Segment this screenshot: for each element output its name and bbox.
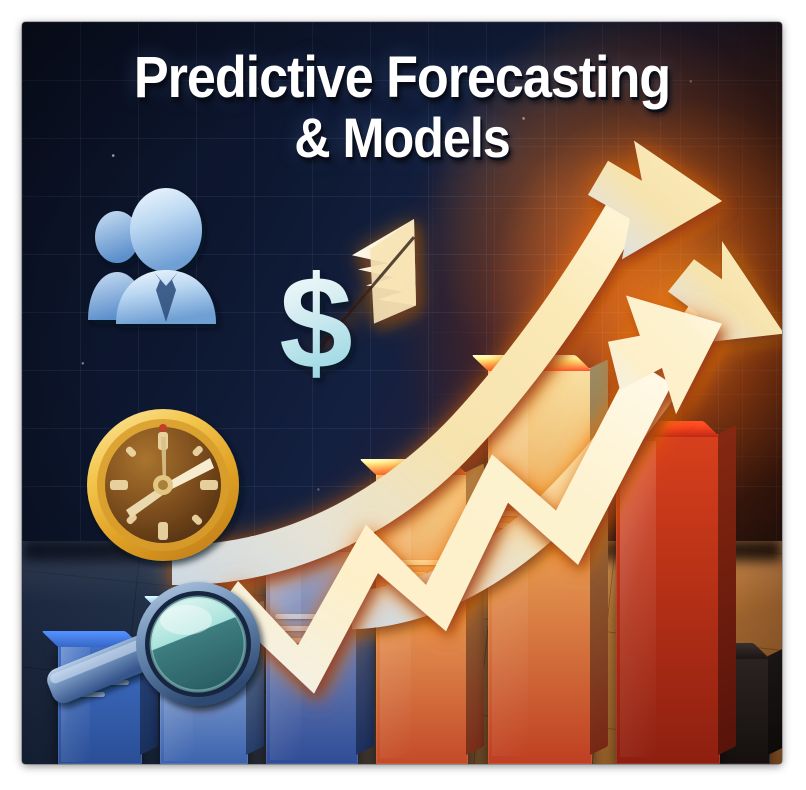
bar-side [768,647,782,755]
page-title: Predictive Forecasting & Models [22,48,782,166]
poster-frame: $ [0,0,806,790]
bar-side [466,463,484,755]
bar-top [599,421,720,437]
bar-gloss [492,376,527,756]
bar-detail-lines [385,560,453,620]
bar-background-red [616,434,720,764]
bar-side [718,425,736,755]
clock-icon [82,404,244,566]
bar-top [249,536,358,552]
magnifier-icon [40,578,280,718]
dollar-glyph: $ [279,249,352,396]
title-line-2: & Models [92,109,711,166]
bar-face [488,368,592,764]
bar-gloss [620,441,655,758]
title-line-1: Predictive Forecasting [92,48,711,107]
bar-side [356,540,374,755]
poster-artboard: $ [22,22,782,764]
bar-face [376,472,468,764]
bar-top [359,459,468,475]
bar-face [616,434,720,764]
bar-top [471,355,592,371]
bar-detail-lines [498,511,575,547]
bar-item [376,472,468,764]
dollar-icon: $ [268,244,364,394]
people-icon [84,194,244,344]
bar-item [488,368,592,764]
bar-detail-lines [275,614,343,650]
bar-side [590,359,608,755]
